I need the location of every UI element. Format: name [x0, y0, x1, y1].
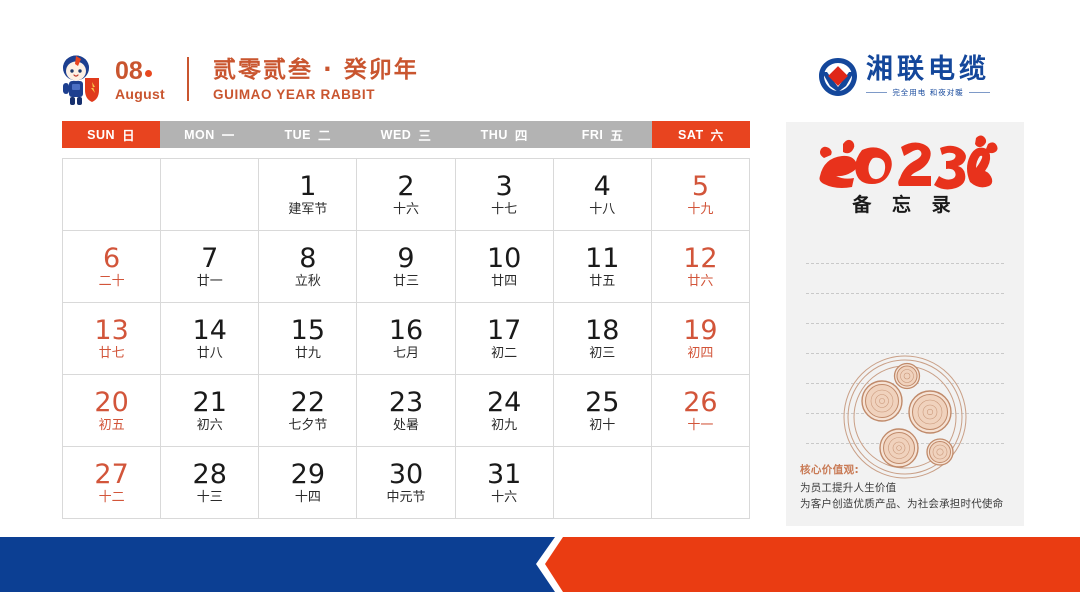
day-number: 10 — [487, 245, 521, 272]
calendar-cell-day[interactable]: 9廿三 — [357, 231, 455, 303]
weekday-cn: 一 — [222, 125, 235, 144]
calendar-cell-day[interactable]: 3十七 — [456, 159, 554, 231]
calendar-cell-day[interactable]: 31十六 — [456, 447, 554, 519]
day-number: 19 — [683, 317, 717, 344]
day-lunar-label: 建军节 — [288, 203, 327, 216]
day-lunar-label: 处暑 — [393, 419, 419, 432]
calendar-grid: 1建军节2十六3十七4十八5十九6二十7廿一8立秋9廿三10廿四11廿五12廿六… — [62, 158, 750, 519]
calendar-cell-day[interactable]: 20初五 — [63, 375, 161, 447]
footer-chevron-shape — [0, 537, 1080, 592]
day-number: 9 — [397, 245, 414, 272]
weekday-cn: 五 — [610, 125, 623, 144]
day-number: 14 — [193, 317, 227, 344]
weekday-header-wed: WED三 — [357, 121, 455, 148]
calendar-cell-day[interactable]: 5十九 — [652, 159, 750, 231]
core-values-line-1: 为员工提升人生价值 — [800, 480, 1022, 496]
core-values-title: 核心价值观: — [800, 462, 1022, 477]
calendar-cell-day[interactable]: 10廿四 — [456, 231, 554, 303]
day-number: 12 — [683, 245, 717, 272]
weekday-cn: 二 — [318, 125, 331, 144]
header-divider — [187, 57, 189, 101]
calendar-cell-empty — [554, 447, 652, 519]
day-lunar-label: 十八 — [589, 203, 615, 216]
calendar-page: 08 August 贰零贰叁 · 癸卯年 GUIMAO YEAR RABBIT … — [0, 0, 1080, 592]
weekday-en: SAT — [678, 128, 704, 142]
tagline-rule-left — [866, 92, 887, 93]
weekday-header-tue: TUE二 — [259, 121, 357, 148]
footer-decoration-bar — [0, 537, 1080, 592]
day-number: 30 — [389, 461, 423, 488]
day-number: 2 — [397, 173, 414, 200]
day-lunar-label: 初三 — [589, 347, 615, 360]
weekday-en: SUN — [87, 128, 115, 142]
calendar-cell-day[interactable]: 18初三 — [554, 303, 652, 375]
year-block: 贰零贰叁 · 癸卯年 GUIMAO YEAR RABBIT — [213, 57, 419, 102]
calendar-cell-day[interactable]: 6二十 — [63, 231, 161, 303]
memo-panel: 备 忘 录 — [786, 122, 1024, 526]
day-lunar-label: 十七 — [491, 203, 517, 216]
month-brand-group: 08 August 贰零贰叁 · 癸卯年 GUIMAO YEAR RABBIT — [55, 52, 419, 106]
calendar-cell-day[interactable]: 8立秋 — [259, 231, 357, 303]
day-number: 29 — [291, 461, 325, 488]
day-number: 3 — [496, 173, 513, 200]
calendar-cell-day[interactable]: 30中元节 — [357, 447, 455, 519]
weekday-header-sat: SAT六 — [652, 121, 750, 148]
year-2023-rabbit-art-icon — [810, 134, 1000, 196]
memo-line[interactable] — [806, 294, 1004, 324]
calendar-cell-day[interactable]: 26十一 — [652, 375, 750, 447]
calendar-cell-empty — [161, 159, 259, 231]
day-number: 20 — [94, 389, 128, 416]
weekday-header-sun: SUN日 — [62, 121, 160, 148]
weekday-en: WED — [381, 128, 412, 142]
memo-line[interactable] — [806, 324, 1004, 354]
footer-red-block — [545, 537, 1080, 592]
company-tagline-wrap: 完全用电 和夜对暖 — [866, 87, 990, 98]
weekday-en: THU — [481, 128, 508, 142]
day-number: 11 — [585, 245, 619, 272]
core-values-line-2: 为客户创造优质产品、为社会承担时代使命 — [800, 496, 1022, 512]
day-number: 22 — [291, 389, 325, 416]
day-number: 25 — [585, 389, 619, 416]
weekday-header-row: SUN日MON一TUE二WED三THU四FRI五SAT六 — [62, 121, 750, 148]
day-lunar-label: 廿三 — [393, 275, 419, 288]
company-brand-group: 湘联电缆 完全用电 和夜对暖 — [818, 56, 990, 98]
memo-line[interactable] — [806, 264, 1004, 294]
day-lunar-label: 初十 — [589, 419, 615, 432]
company-name-wrap: 湘联电缆 完全用电 和夜对暖 — [866, 56, 990, 98]
day-lunar-label: 十六 — [491, 491, 517, 504]
day-number: 23 — [389, 389, 423, 416]
day-number: 28 — [193, 461, 227, 488]
month-dot-icon — [145, 70, 152, 77]
page-header: 08 August 贰零贰叁 · 癸卯年 GUIMAO YEAR RABBIT … — [0, 0, 1080, 118]
calendar-cell-day[interactable]: 11廿五 — [554, 231, 652, 303]
day-number: 1 — [299, 173, 316, 200]
xianglian-logo-icon — [818, 56, 858, 98]
day-lunar-label: 初九 — [491, 419, 517, 432]
calendar-cell-day[interactable]: 16七月 — [357, 303, 455, 375]
day-lunar-label: 十一 — [687, 419, 713, 432]
calendar-cell-day[interactable]: 13廿七 — [63, 303, 161, 375]
day-lunar-label: 立秋 — [295, 275, 321, 288]
day-lunar-label: 廿四 — [491, 275, 517, 288]
calendar-cell-day[interactable]: 28十三 — [161, 447, 259, 519]
calendar-cell-day[interactable]: 7廿一 — [161, 231, 259, 303]
weekday-cn: 三 — [418, 125, 431, 144]
day-number: 21 — [193, 389, 227, 416]
day-lunar-label: 廿五 — [589, 275, 615, 288]
calendar-cell-day[interactable]: 12廿六 — [652, 231, 750, 303]
calendar-cell-day[interactable]: 29十四 — [259, 447, 357, 519]
calendar-cell-day[interactable]: 1建军节 — [259, 159, 357, 231]
day-lunar-label: 十九 — [687, 203, 713, 216]
day-lunar-label: 十三 — [197, 491, 223, 504]
company-name-cn: 湘联电缆 — [866, 56, 990, 83]
month-name: August — [115, 87, 165, 101]
weekday-header-mon: MON一 — [160, 121, 258, 148]
year-label-cn: 贰零贰叁 · 癸卯年 — [213, 59, 419, 82]
core-values-block: 核心价值观: 为员工提升人生价值 为客户创造优质产品、为社会承担时代使命 — [800, 462, 1022, 513]
day-number: 26 — [683, 389, 717, 416]
calendar-cell-day[interactable]: 23处暑 — [357, 375, 455, 447]
day-number: 13 — [94, 317, 128, 344]
calendar-cell-day[interactable]: 15廿九 — [259, 303, 357, 375]
memo-title: 备 忘 录 — [786, 190, 1024, 217]
year-label-en: GUIMAO YEAR RABBIT — [213, 88, 419, 102]
month-number: 08 — [115, 59, 165, 84]
calendar-cell-day[interactable]: 2十六 — [357, 159, 455, 231]
calendar-cell-empty — [652, 447, 750, 519]
calendar-cell-day[interactable]: 25初十 — [554, 375, 652, 447]
weekday-cn: 六 — [711, 125, 724, 144]
day-number: 7 — [201, 245, 218, 272]
calendar-cell-day[interactable]: 14廿八 — [161, 303, 259, 375]
day-lunar-label: 廿六 — [687, 275, 713, 288]
tagline-rule-right — [969, 92, 990, 93]
weekday-en: FRI — [582, 128, 604, 142]
memo-line[interactable] — [806, 234, 1004, 264]
day-number: 8 — [299, 245, 316, 272]
day-number: 5 — [692, 173, 709, 200]
day-lunar-label: 中元节 — [386, 491, 425, 504]
calendar-cell-day[interactable]: 4十八 — [554, 159, 652, 231]
day-lunar-label: 二十 — [99, 275, 125, 288]
day-number: 18 — [585, 317, 619, 344]
day-number: 24 — [487, 389, 521, 416]
calendar-cell-empty — [63, 159, 161, 231]
year-artwork — [786, 134, 1024, 196]
calendar-widget: SUN日MON一TUE二WED三THU四FRI五SAT六 1建军节2十六3十七4… — [62, 121, 750, 519]
day-lunar-label: 廿九 — [295, 347, 321, 360]
weekday-en: TUE — [284, 128, 311, 142]
day-number: 16 — [389, 317, 423, 344]
day-number: 31 — [487, 461, 521, 488]
day-lunar-label: 七夕节 — [288, 419, 327, 432]
calendar-cell-day[interactable]: 22七夕节 — [259, 375, 357, 447]
calendar-cell-day[interactable]: 27十二 — [63, 447, 161, 519]
weekday-cn: 四 — [515, 125, 528, 144]
day-lunar-label: 初二 — [491, 347, 517, 360]
weekday-en: MON — [184, 128, 215, 142]
weekday-header-thu: THU四 — [455, 121, 553, 148]
calendar-cell-day[interactable]: 19初四 — [652, 303, 750, 375]
weekday-cn: 日 — [122, 125, 135, 144]
day-number: 27 — [94, 461, 128, 488]
day-number: 17 — [487, 317, 521, 344]
day-lunar-label: 初六 — [197, 419, 223, 432]
calendar-cell-day[interactable]: 21初六 — [161, 375, 259, 447]
day-lunar-label: 廿八 — [197, 347, 223, 360]
month-block: 08 August — [115, 57, 165, 101]
company-tagline: 完全用电 和夜对暖 — [892, 87, 963, 98]
day-number: 4 — [594, 173, 611, 200]
day-number: 6 — [103, 245, 120, 272]
day-lunar-label: 十四 — [295, 491, 321, 504]
day-number: 15 — [291, 317, 325, 344]
calendar-cell-day[interactable]: 17初二 — [456, 303, 554, 375]
day-lunar-label: 初四 — [687, 347, 713, 360]
day-lunar-label: 十二 — [99, 491, 125, 504]
weekday-header-fri: FRI五 — [553, 121, 651, 148]
footer-blue-block — [0, 537, 555, 592]
mascot-shield-icon — [55, 52, 105, 106]
day-lunar-label: 十六 — [393, 203, 419, 216]
calendar-cell-day[interactable]: 24初九 — [456, 375, 554, 447]
day-lunar-label: 廿七 — [99, 347, 125, 360]
day-lunar-label: 七月 — [393, 347, 419, 360]
day-lunar-label: 初五 — [99, 419, 125, 432]
day-lunar-label: 廿一 — [197, 275, 223, 288]
